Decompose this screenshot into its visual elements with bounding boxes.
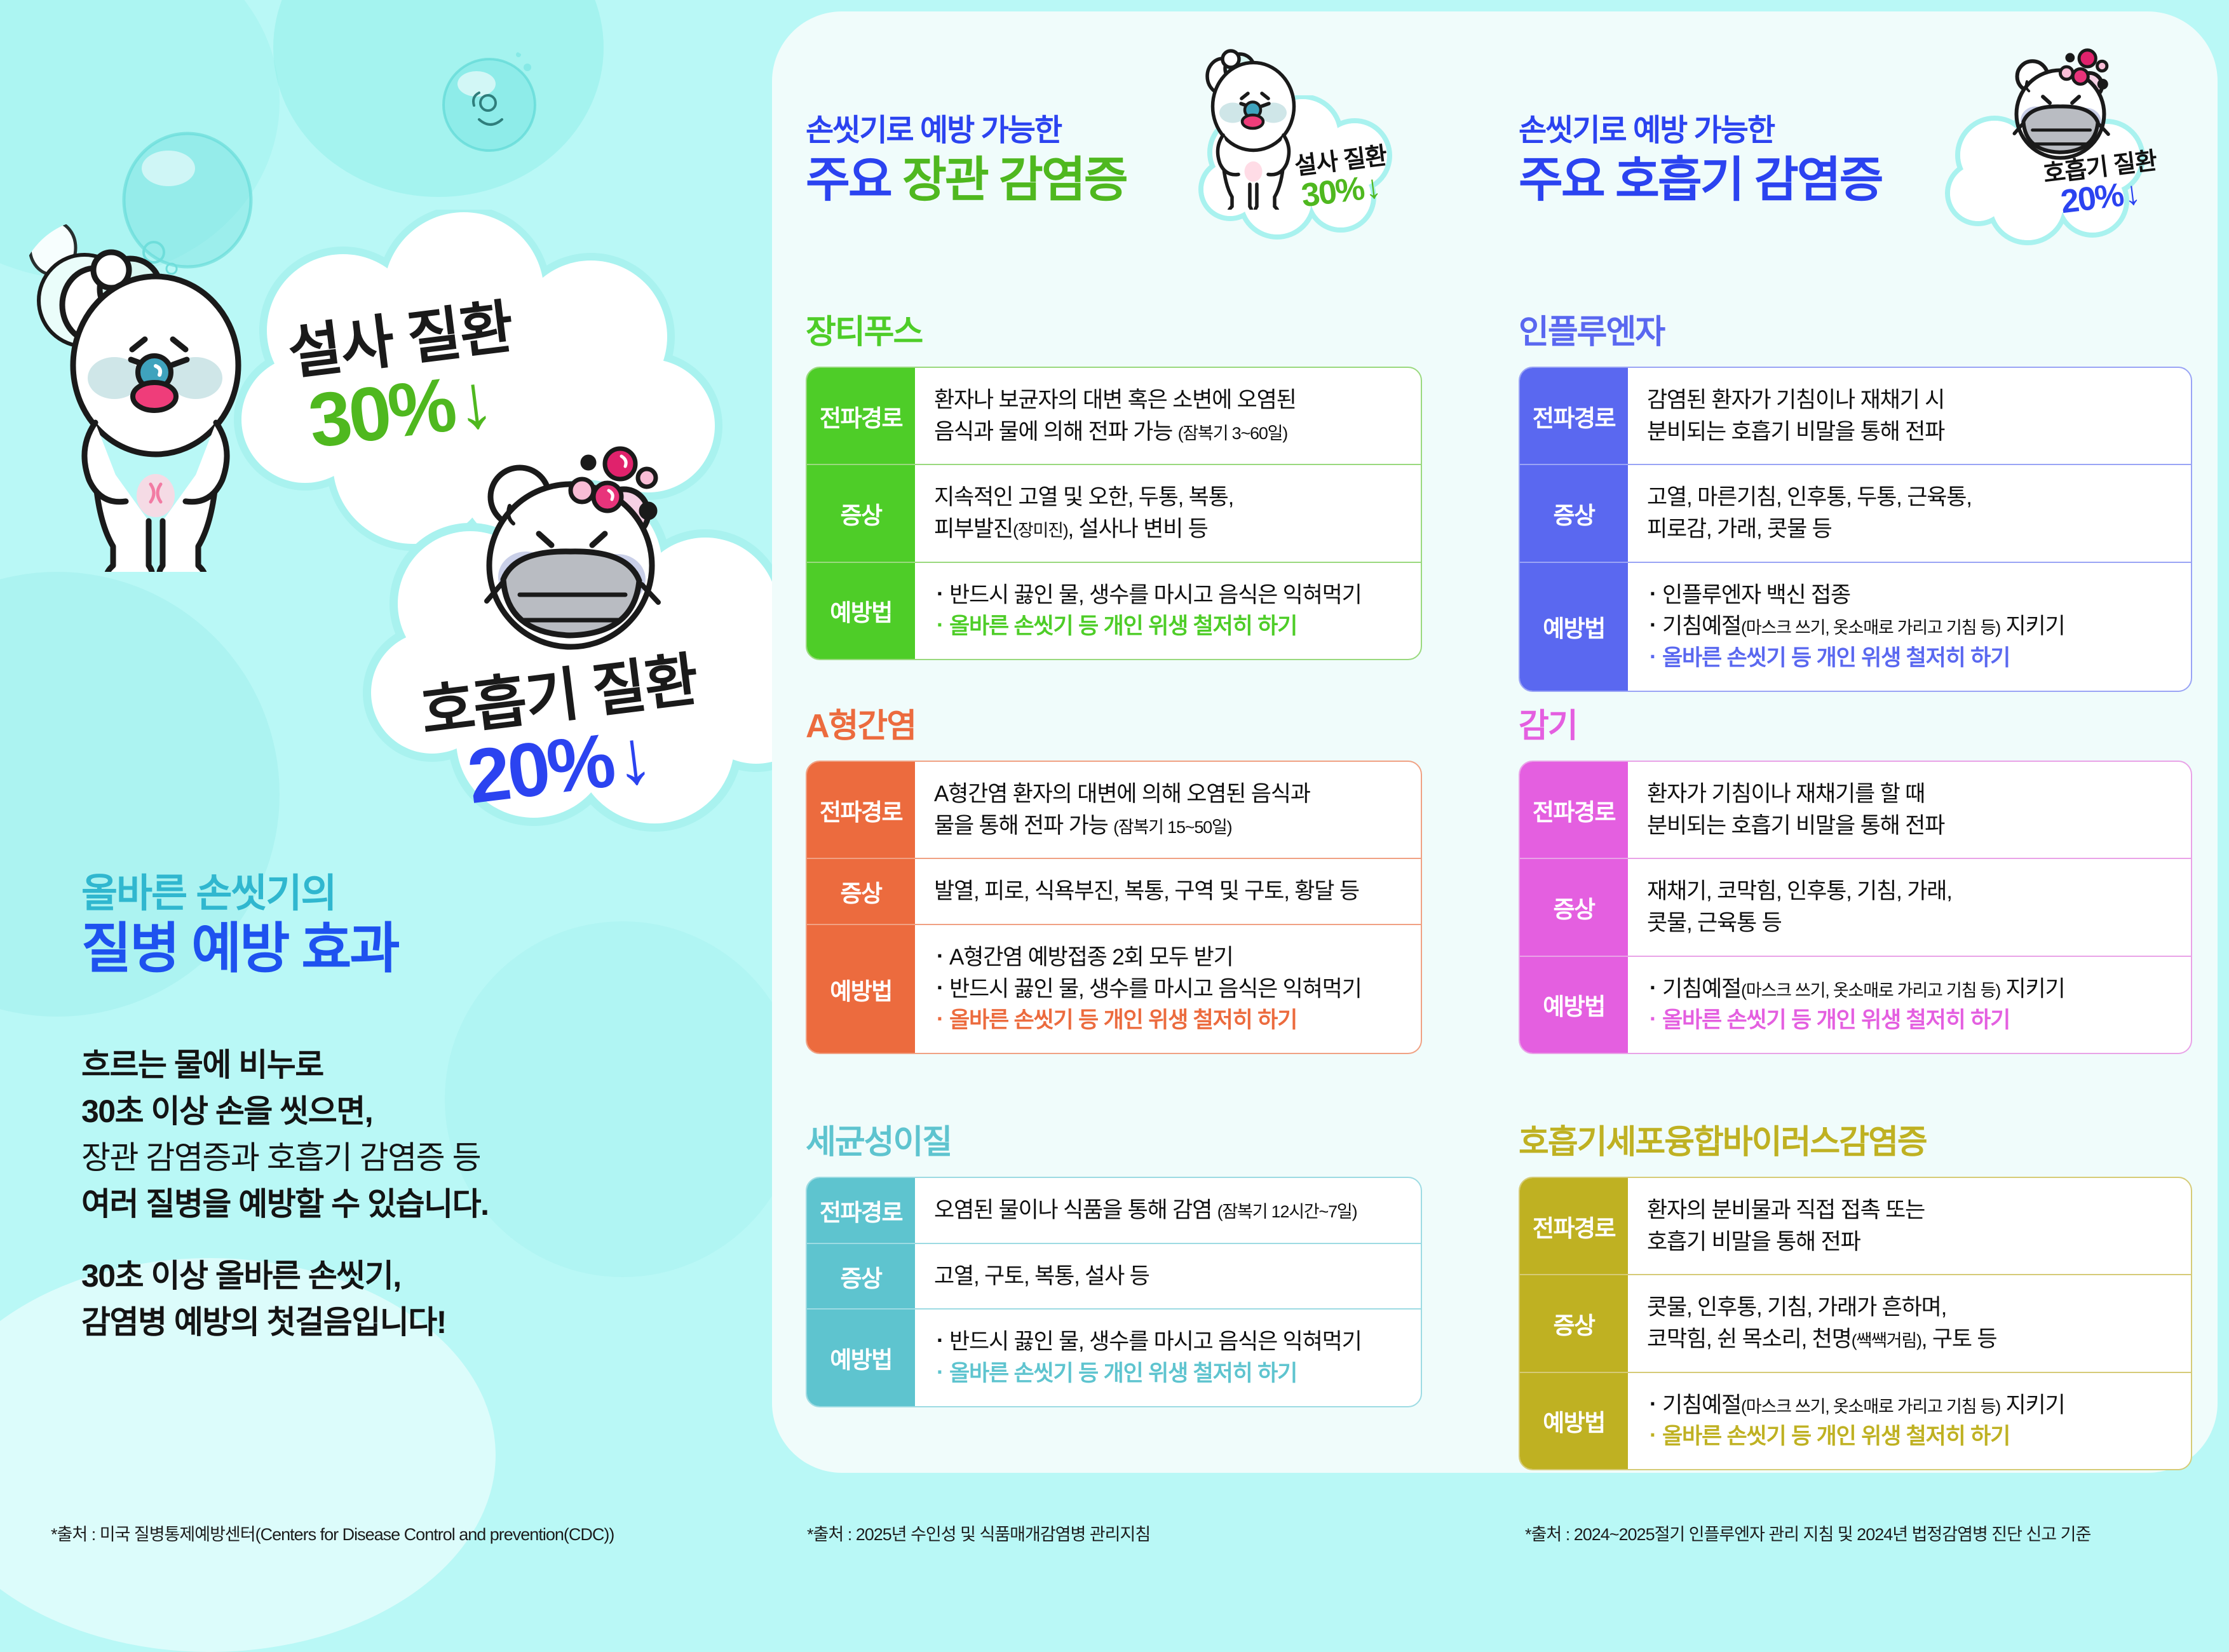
prevention-item: 반드시 끓인 물, 생수를 마시고 음식은 익혀먹기 bbox=[934, 1326, 1402, 1358]
disease-table-row: 증상지속적인 고열 및 오한, 두통, 복통,피부발진(장미진), 설사나 변비… bbox=[807, 464, 1421, 561]
body-line: 장관 감염증과 호흡기 감염증 등 bbox=[81, 1135, 755, 1181]
prevention-list: 반드시 끓인 물, 생수를 마시고 음식은 익혀먹기올바른 손씻기 등 개인 위… bbox=[934, 579, 1402, 642]
disease-title: 호흡기세포융합바이러스감염증 bbox=[1519, 1115, 2192, 1163]
prevention-item: 기침예절(마스크 쓰기, 옷소매로 가리고 기침 등) 지키기 bbox=[1647, 1390, 2172, 1421]
value-note: (잠복기 12시간~7일) bbox=[1217, 1202, 1357, 1221]
down-arrow-icon: ↓ bbox=[1363, 170, 1382, 205]
left-column: 설사 질환 30% ↓ bbox=[0, 0, 772, 1576]
mini-badge-enteric: 설사 질환 30% ↓ bbox=[1268, 149, 1414, 208]
disease-row-value: 인플루엔자 백신 접종기침예절(마스크 쓰기, 옷소매로 가리고 기침 등) 지… bbox=[1628, 563, 2191, 691]
disease-table: 전파경로A형간염 환자의 대변에 의해 오염된 음식과물을 통해 전파 가능 (… bbox=[806, 761, 1422, 1054]
value-line: 고열, 구토, 복통, 설사 등 bbox=[934, 1261, 1402, 1292]
value-line: 콧물, 근육통 등 bbox=[1647, 907, 2172, 939]
disease-row-label: 증상 bbox=[807, 465, 915, 561]
disease-row-label: 전파경로 bbox=[807, 368, 915, 464]
badge-respiratory-20: 호흡기 질환 20% ↓ bbox=[381, 667, 737, 804]
section-title-respiratory: 주요 호흡기 감염증 bbox=[1519, 153, 1882, 207]
body-paragraph: 30초 이상 올바른 손씻기,감염병 예방의 첫걸음입니다! bbox=[81, 1253, 755, 1346]
down-arrow-icon: ↓ bbox=[451, 362, 496, 442]
value-line: A형간염 환자의 대변에 의해 오염된 음식과 bbox=[934, 778, 1402, 810]
value-line: 피로감, 가래, 콧물 등 bbox=[1647, 513, 2172, 545]
section-subtitle-enteric: 손씻기로 예방 가능한 bbox=[806, 114, 1127, 148]
badge-diarrhea-30: 설사 질환 30% ↓ bbox=[229, 311, 572, 449]
prevention-note: (마스크 쓰기, 옷소매로 가리고 기침 등) bbox=[1741, 1397, 2000, 1416]
value-line: 음식과 물에 의해 전파 가능 (잠복기 3~60일) bbox=[934, 416, 1402, 448]
disease-row-label: 증상 bbox=[807, 859, 915, 924]
disease-row-value: 환자의 분비물과 직접 접촉 또는호흡기 비말을 통해 전파 bbox=[1628, 1178, 2191, 1274]
body-paragraph: 흐르는 물에 비누로30초 이상 손을 씻으면,장관 감염증과 호흡기 감염증 … bbox=[81, 1042, 755, 1228]
disease-row-value: 콧물, 인후통, 기침, 가래가 흔하며,코막힘, 쉰 목소리, 천명(쌕쌕거림… bbox=[1628, 1275, 2191, 1371]
disease-row-label: 증상 bbox=[1520, 465, 1628, 561]
body-copy: 흐르는 물에 비누로30초 이상 손을 씻으면,장관 감염증과 호흡기 감염증 … bbox=[81, 1042, 755, 1371]
value-line: 오염된 물이나 식품을 통해 감염 (잠복기 12시간~7일) bbox=[934, 1195, 1402, 1226]
disease-row-value: 재채기, 코막힘, 인후통, 기침, 가래,콧물, 근육통 등 bbox=[1628, 859, 2191, 955]
value-line: 재채기, 코막힘, 인후통, 기침, 가래, bbox=[1647, 876, 2172, 907]
prevention-note: (마스크 쓰기, 옷소매로 가리고 기침 등) bbox=[1741, 981, 2000, 1000]
disease-table-row: 전파경로환자가 기침이나 재채기를 할 때분비되는 호흡기 비말을 통해 전파 bbox=[1520, 762, 2191, 858]
disease-row-label: 전파경로 bbox=[1520, 762, 1628, 858]
disease-table: 전파경로환자가 기침이나 재채기를 할 때분비되는 호흡기 비말을 통해 전파증… bbox=[1519, 761, 2192, 1054]
disease-block: 감기전파경로환자가 기침이나 재채기를 할 때분비되는 호흡기 비말을 통해 전… bbox=[1519, 699, 2192, 1054]
disease-row-label: 증상 bbox=[807, 1244, 915, 1309]
prevention-item: 올바른 손씻기 등 개인 위생 철저히 하기 bbox=[1647, 1005, 2172, 1036]
disease-table-row: 예방법반드시 끓인 물, 생수를 마시고 음식은 익혀먹기올바른 손씻기 등 개… bbox=[807, 562, 1421, 659]
value-line: 환자가 기침이나 재채기를 할 때 bbox=[1647, 778, 2172, 810]
disease-row-label: 예방법 bbox=[807, 1310, 915, 1405]
down-arrow-icon: ↓ bbox=[610, 717, 654, 797]
disease-table-row: 증상재채기, 코막힘, 인후통, 기침, 가래,콧물, 근육통 등 bbox=[1520, 858, 2191, 955]
disease-table: 전파경로감염된 환자가 기침이나 재채기 시분비되는 호흡기 비말을 통해 전파… bbox=[1519, 367, 2192, 692]
value-line: 고열, 마른기침, 인후통, 두통, 근육통, bbox=[1647, 482, 2172, 513]
lead-line-1: 올바른 손씻기의 bbox=[81, 870, 723, 917]
prevention-list: 기침예절(마스크 쓰기, 옷소매로 가리고 기침 등) 지키기올바른 손씻기 등… bbox=[1647, 1390, 2172, 1452]
body-line: 30초 이상 올바른 손씻기, bbox=[81, 1253, 755, 1299]
prevention-item: 반드시 끓인 물, 생수를 마시고 음식은 익혀먹기 bbox=[934, 579, 1402, 611]
prevention-note: (마스크 쓰기, 옷소매로 가리고 기침 등) bbox=[1741, 618, 2000, 637]
prevention-item: 올바른 손씻기 등 개인 위생 철저히 하기 bbox=[1647, 1421, 2172, 1452]
disease-table-row: 증상고열, 마른기침, 인후통, 두통, 근육통,피로감, 가래, 콧물 등 bbox=[1520, 464, 2191, 561]
value-line: 발열, 피로, 식욕부진, 복통, 구역 및 구토, 황달 등 bbox=[934, 876, 1402, 907]
footnote-enteric: *출처 : 2025년 수인성 및 식품매개감염병 관리지침 bbox=[807, 1520, 1150, 1545]
footnote-respiratory: *출처 : 2024~2025절기 인플루엔자 관리 지침 및 2024년 법정… bbox=[1525, 1520, 2090, 1545]
value-line: 감염된 환자가 기침이나 재채기 시 bbox=[1647, 384, 2172, 416]
section-subtitle-respiratory: 손씻기로 예방 가능한 bbox=[1519, 114, 1882, 148]
prevention-item: 올바른 손씻기 등 개인 위생 철저히 하기 bbox=[934, 611, 1402, 642]
disease-row-value: 기침예절(마스크 쓰기, 옷소매로 가리고 기침 등) 지키기올바른 손씻기 등… bbox=[1628, 1373, 2191, 1469]
value-line: 물을 통해 전파 가능 (잠복기 15~50일) bbox=[934, 810, 1402, 842]
disease-table-row: 예방법기침예절(마스크 쓰기, 옷소매로 가리고 기침 등) 지키기올바른 손씻… bbox=[1520, 956, 2191, 1053]
disease-row-label: 예방법 bbox=[1520, 957, 1628, 1053]
disease-title: 세균성이질 bbox=[806, 1115, 1422, 1163]
prevention-list: 인플루엔자 백신 접종기침예절(마스크 쓰기, 옷소매로 가리고 기침 등) 지… bbox=[1647, 579, 2172, 674]
disease-table-row: 전파경로오염된 물이나 식품을 통해 감염 (잠복기 12시간~7일) bbox=[807, 1178, 1421, 1243]
disease-table-row: 예방법인플루엔자 백신 접종기침예절(마스크 쓰기, 옷소매로 가리고 기침 등… bbox=[1520, 562, 2191, 691]
disease-block: 장티푸스전파경로환자나 보균자의 대변 혹은 소변에 오염된음식과 물에 의해 … bbox=[806, 305, 1422, 660]
disease-row-value: 반드시 끓인 물, 생수를 마시고 음식은 익혀먹기올바른 손씻기 등 개인 위… bbox=[915, 1310, 1421, 1405]
value-line: 환자나 보균자의 대변 혹은 소변에 오염된 bbox=[934, 384, 1402, 416]
lead-line-2: 질병 예방 효과 bbox=[81, 918, 723, 979]
prevention-list: 반드시 끓인 물, 생수를 마시고 음식은 익혀먹기올바른 손씻기 등 개인 위… bbox=[934, 1326, 1402, 1389]
disease-title: A형간염 bbox=[806, 699, 1422, 747]
prevention-item: 인플루엔자 백신 접종 bbox=[1647, 579, 2172, 611]
value-line: 지속적인 고열 및 오한, 두통, 복통, bbox=[934, 482, 1402, 513]
disease-title: 감기 bbox=[1519, 699, 2192, 747]
value-line: 코막힘, 쉰 목소리, 천명(쌕쌕거림), 구토 등 bbox=[1647, 1324, 2172, 1355]
disease-row-label: 예방법 bbox=[1520, 1373, 1628, 1469]
disease-block: A형간염전파경로A형간염 환자의 대변에 의해 오염된 음식과물을 통해 전파 … bbox=[806, 699, 1422, 1054]
prevention-item: 기침예절(마스크 쓰기, 옷소매로 가리고 기침 등) 지키기 bbox=[1647, 611, 2172, 642]
disease-title: 인플루엔자 bbox=[1519, 305, 2192, 353]
disease-row-label: 전파경로 bbox=[807, 762, 915, 858]
prevention-item: 올바른 손씻기 등 개인 위생 철저히 하기 bbox=[934, 1358, 1402, 1390]
value-line: 분비되는 호흡기 비말을 통해 전파 bbox=[1647, 810, 2172, 842]
value-line: 콧물, 인후통, 기침, 가래가 흔하며, bbox=[1647, 1292, 2172, 1324]
disease-table-row: 전파경로환자의 분비물과 직접 접촉 또는호흡기 비말을 통해 전파 bbox=[1520, 1178, 2191, 1274]
disease-table: 전파경로환자의 분비물과 직접 접촉 또는호흡기 비말을 통해 전파증상콧물, … bbox=[1519, 1177, 2192, 1470]
prevention-item: 반드시 끓인 물, 생수를 마시고 음식은 익혀먹기 bbox=[934, 973, 1402, 1005]
disease-row-value: 오염된 물이나 식품을 통해 감염 (잠복기 12시간~7일) bbox=[915, 1178, 1421, 1243]
disease-row-value: 발열, 피로, 식욕부진, 복통, 구역 및 구토, 황달 등 bbox=[915, 859, 1421, 924]
disease-row-value: 고열, 마른기침, 인후통, 두통, 근육통,피로감, 가래, 콧물 등 bbox=[1628, 465, 2191, 561]
value-note: (잠복기 3~60일) bbox=[1178, 424, 1287, 443]
disease-block: 세균성이질전파경로오염된 물이나 식품을 통해 감염 (잠복기 12시간~7일)… bbox=[806, 1115, 1422, 1407]
value-line: 호흡기 비말을 통해 전파 bbox=[1647, 1226, 2172, 1258]
section-title-enteric: 주요 장관 감염증 bbox=[806, 153, 1127, 207]
disease-row-value: 감염된 환자가 기침이나 재채기 시분비되는 호흡기 비말을 통해 전파 bbox=[1628, 368, 2191, 464]
down-arrow-icon: ↓ bbox=[2122, 177, 2141, 212]
prevention-item: 올바른 손씻기 등 개인 위생 철저히 하기 bbox=[934, 1005, 1402, 1036]
prevention-list: 기침예절(마스크 쓰기, 옷소매로 가리고 기침 등) 지키기올바른 손씻기 등… bbox=[1647, 973, 2172, 1036]
lead-heading: 올바른 손씻기의 질병 예방 효과 bbox=[81, 870, 723, 979]
disease-table-row: 예방법A형간염 예방접종 2회 모두 받기반드시 끓인 물, 생수를 마시고 음… bbox=[807, 924, 1421, 1053]
disease-row-value: A형간염 예방접종 2회 모두 받기반드시 끓인 물, 생수를 마시고 음식은 … bbox=[915, 925, 1421, 1053]
disease-row-label: 전파경로 bbox=[1520, 1178, 1628, 1274]
disease-row-label: 전파경로 bbox=[807, 1178, 915, 1243]
value-note: (쌕쌕거림) bbox=[1852, 1331, 1921, 1350]
section-header-enteric: 손씻기로 예방 가능한 주요 장관 감염증 bbox=[806, 114, 1127, 207]
disease-row-label: 예방법 bbox=[807, 925, 915, 1053]
disease-block: 호흡기세포융합바이러스감염증전파경로환자의 분비물과 직접 접촉 또는호흡기 비… bbox=[1519, 1115, 2192, 1470]
mini-badge-respiratory: 호흡기 질환 20% ↓ bbox=[2021, 156, 2179, 214]
footnote-left: *출처 : 미국 질병통제예방센터(Centers for Disease Co… bbox=[51, 1520, 614, 1545]
disease-row-label: 예방법 bbox=[1520, 563, 1628, 691]
disease-block: 인플루엔자전파경로감염된 환자가 기침이나 재채기 시분비되는 호흡기 비말을 … bbox=[1519, 305, 2192, 692]
disease-row-value: 지속적인 고열 및 오한, 두통, 복통,피부발진(장미진), 설사나 변비 등 bbox=[915, 465, 1421, 561]
disease-table: 전파경로오염된 물이나 식품을 통해 감염 (잠복기 12시간~7일)증상고열,… bbox=[806, 1177, 1422, 1407]
disease-row-label: 증상 bbox=[1520, 859, 1628, 955]
disease-table-row: 전파경로감염된 환자가 기침이나 재채기 시분비되는 호흡기 비말을 통해 전파 bbox=[1520, 368, 2191, 464]
disease-table: 전파경로환자나 보균자의 대변 혹은 소변에 오염된음식과 물에 의해 전파 가… bbox=[806, 367, 1422, 660]
body-line: 여러 질병을 예방할 수 있습니다. bbox=[81, 1181, 755, 1228]
disease-table-row: 전파경로A형간염 환자의 대변에 의해 오염된 음식과물을 통해 전파 가능 (… bbox=[807, 762, 1421, 858]
body-line: 감염병 예방의 첫걸음입니다! bbox=[81, 1299, 755, 1346]
prevention-item: 기침예절(마스크 쓰기, 옷소매로 가리고 기침 등) 지키기 bbox=[1647, 973, 2172, 1005]
poster-canvas: 설사 질환 30% ↓ bbox=[0, 0, 2229, 1576]
value-line: 환자의 분비물과 직접 접촉 또는 bbox=[1647, 1195, 2172, 1226]
body-line: 흐르는 물에 비누로 bbox=[81, 1042, 755, 1088]
section-header-respiratory: 손씻기로 예방 가능한 주요 호흡기 감염증 bbox=[1519, 114, 1882, 207]
value-line: 분비되는 호흡기 비말을 통해 전파 bbox=[1647, 416, 2172, 448]
body-line: 30초 이상 손을 씻으면, bbox=[81, 1088, 755, 1135]
disease-table-row: 예방법반드시 끓인 물, 생수를 마시고 음식은 익혀먹기올바른 손씻기 등 개… bbox=[807, 1308, 1421, 1405]
value-note: (잠복기 15~50일) bbox=[1113, 818, 1231, 837]
value-line: 피부발진(장미진), 설사나 변비 등 bbox=[934, 513, 1402, 545]
disease-table-row: 증상고열, 구토, 복통, 설사 등 bbox=[807, 1243, 1421, 1309]
disease-table-row: 전파경로환자나 보균자의 대변 혹은 소변에 오염된음식과 물에 의해 전파 가… bbox=[807, 368, 1421, 464]
disease-table-row: 증상콧물, 인후통, 기침, 가래가 흔하며,코막힘, 쉰 목소리, 천명(쌕쌕… bbox=[1520, 1274, 2191, 1371]
disease-row-value: 환자가 기침이나 재채기를 할 때분비되는 호흡기 비말을 통해 전파 bbox=[1628, 762, 2191, 858]
disease-row-value: 반드시 끓인 물, 생수를 마시고 음식은 익혀먹기올바른 손씻기 등 개인 위… bbox=[915, 563, 1421, 659]
disease-table-row: 예방법기침예절(마스크 쓰기, 옷소매로 가리고 기침 등) 지키기올바른 손씻… bbox=[1520, 1372, 2191, 1469]
disease-row-value: A형간염 환자의 대변에 의해 오염된 음식과물을 통해 전파 가능 (잠복기 … bbox=[915, 762, 1421, 858]
disease-row-label: 전파경로 bbox=[1520, 368, 1628, 464]
disease-row-label: 예방법 bbox=[807, 563, 915, 659]
prevention-list: A형간염 예방접종 2회 모두 받기반드시 끓인 물, 생수를 마시고 음식은 … bbox=[934, 942, 1402, 1036]
disease-title: 장티푸스 bbox=[806, 305, 1422, 353]
prevention-item: A형간염 예방접종 2회 모두 받기 bbox=[934, 942, 1402, 973]
disease-table-row: 증상발열, 피로, 식욕부진, 복통, 구역 및 구토, 황달 등 bbox=[807, 858, 1421, 924]
disease-row-label: 증상 bbox=[1520, 1275, 1628, 1371]
disease-row-value: 기침예절(마스크 쓰기, 옷소매로 가리고 기침 등) 지키기올바른 손씻기 등… bbox=[1628, 957, 2191, 1053]
disease-row-value: 환자나 보균자의 대변 혹은 소변에 오염된음식과 물에 의해 전파 가능 (잠… bbox=[915, 368, 1421, 464]
value-note: (장미진) bbox=[1013, 521, 1068, 540]
prevention-item: 올바른 손씻기 등 개인 위생 철저히 하기 bbox=[1647, 642, 2172, 674]
disease-row-value: 고열, 구토, 복통, 설사 등 bbox=[915, 1244, 1421, 1309]
